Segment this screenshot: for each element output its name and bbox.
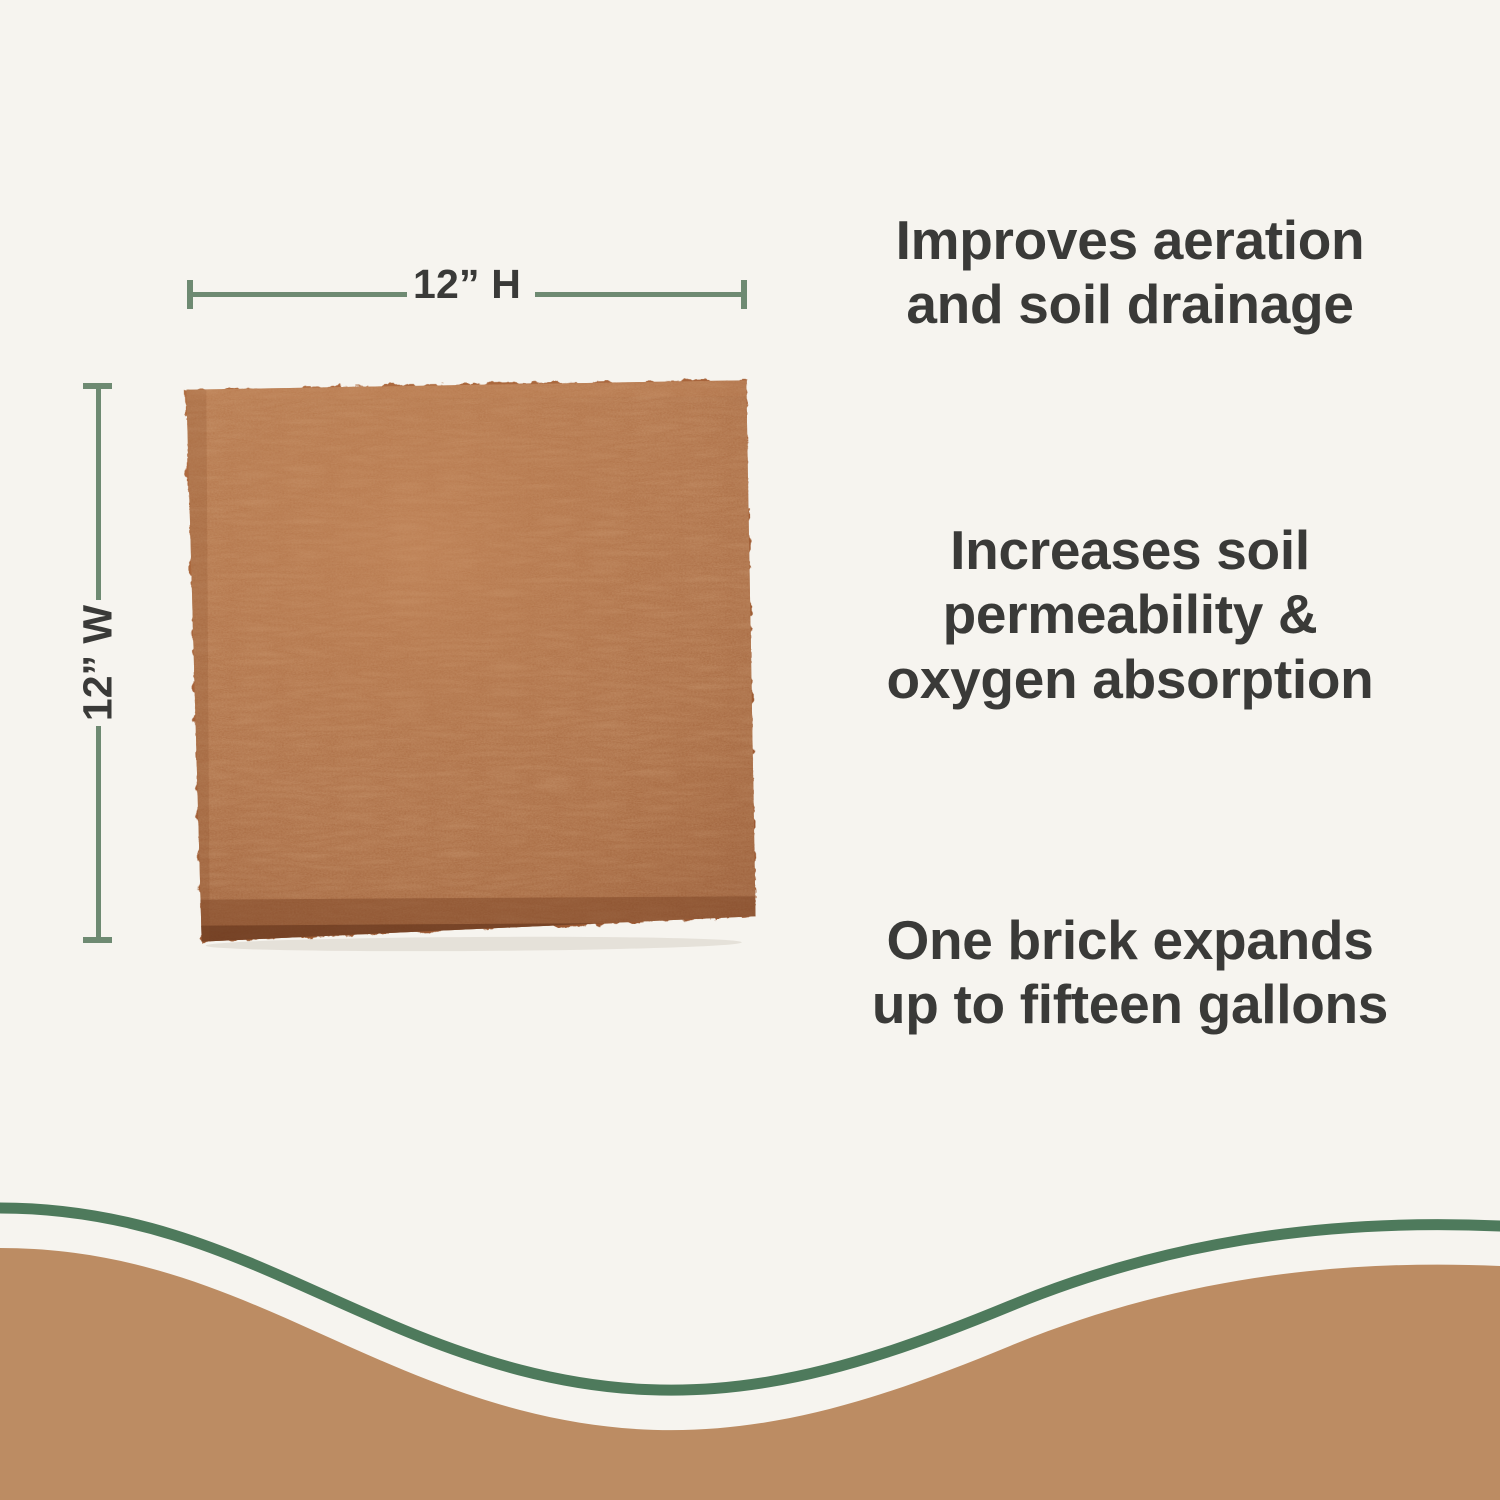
wave-tan-fill bbox=[0, 1248, 1500, 1500]
benefit-item-increases-permeability: Increases soil permeability & oxygen abs… bbox=[800, 518, 1460, 711]
product-image-panel: 12” H 12” W bbox=[0, 0, 800, 1060]
bottom-wave-decoration bbox=[0, 1170, 1500, 1500]
benefit-line: and soil drainage bbox=[800, 272, 1460, 336]
benefit-line: Improves aeration bbox=[800, 208, 1460, 272]
dimension-line-bottom bbox=[96, 726, 101, 938]
benefit-line: Increases soil bbox=[800, 518, 1460, 582]
benefit-item-improves-aeration: Improves aeration and soil drainage bbox=[800, 208, 1460, 337]
dimension-line-top bbox=[96, 388, 101, 600]
benefit-line: up to fifteen gallons bbox=[800, 972, 1460, 1036]
benefit-item-expansion-capacity: One brick expands up to fifteen gallons bbox=[800, 908, 1460, 1037]
dimension-callout-vertical: 12” W bbox=[72, 380, 124, 946]
infographic-canvas: 12” H 12” W bbox=[0, 0, 1500, 1500]
coco-coir-brick-image bbox=[180, 376, 758, 950]
benefits-list: Improves aeration and soil drainage Incr… bbox=[800, 0, 1500, 1120]
benefit-line: One brick expands bbox=[800, 908, 1460, 972]
dimension-end-cap-bottom bbox=[83, 937, 112, 943]
dimension-label-height: 12” H bbox=[184, 264, 750, 305]
benefit-line: permeability & bbox=[800, 582, 1460, 646]
dimension-callout-horizontal: 12” H bbox=[184, 268, 750, 320]
benefit-line: oxygen absorption bbox=[800, 647, 1460, 711]
dimension-label-width: 12” W bbox=[78, 605, 119, 721]
